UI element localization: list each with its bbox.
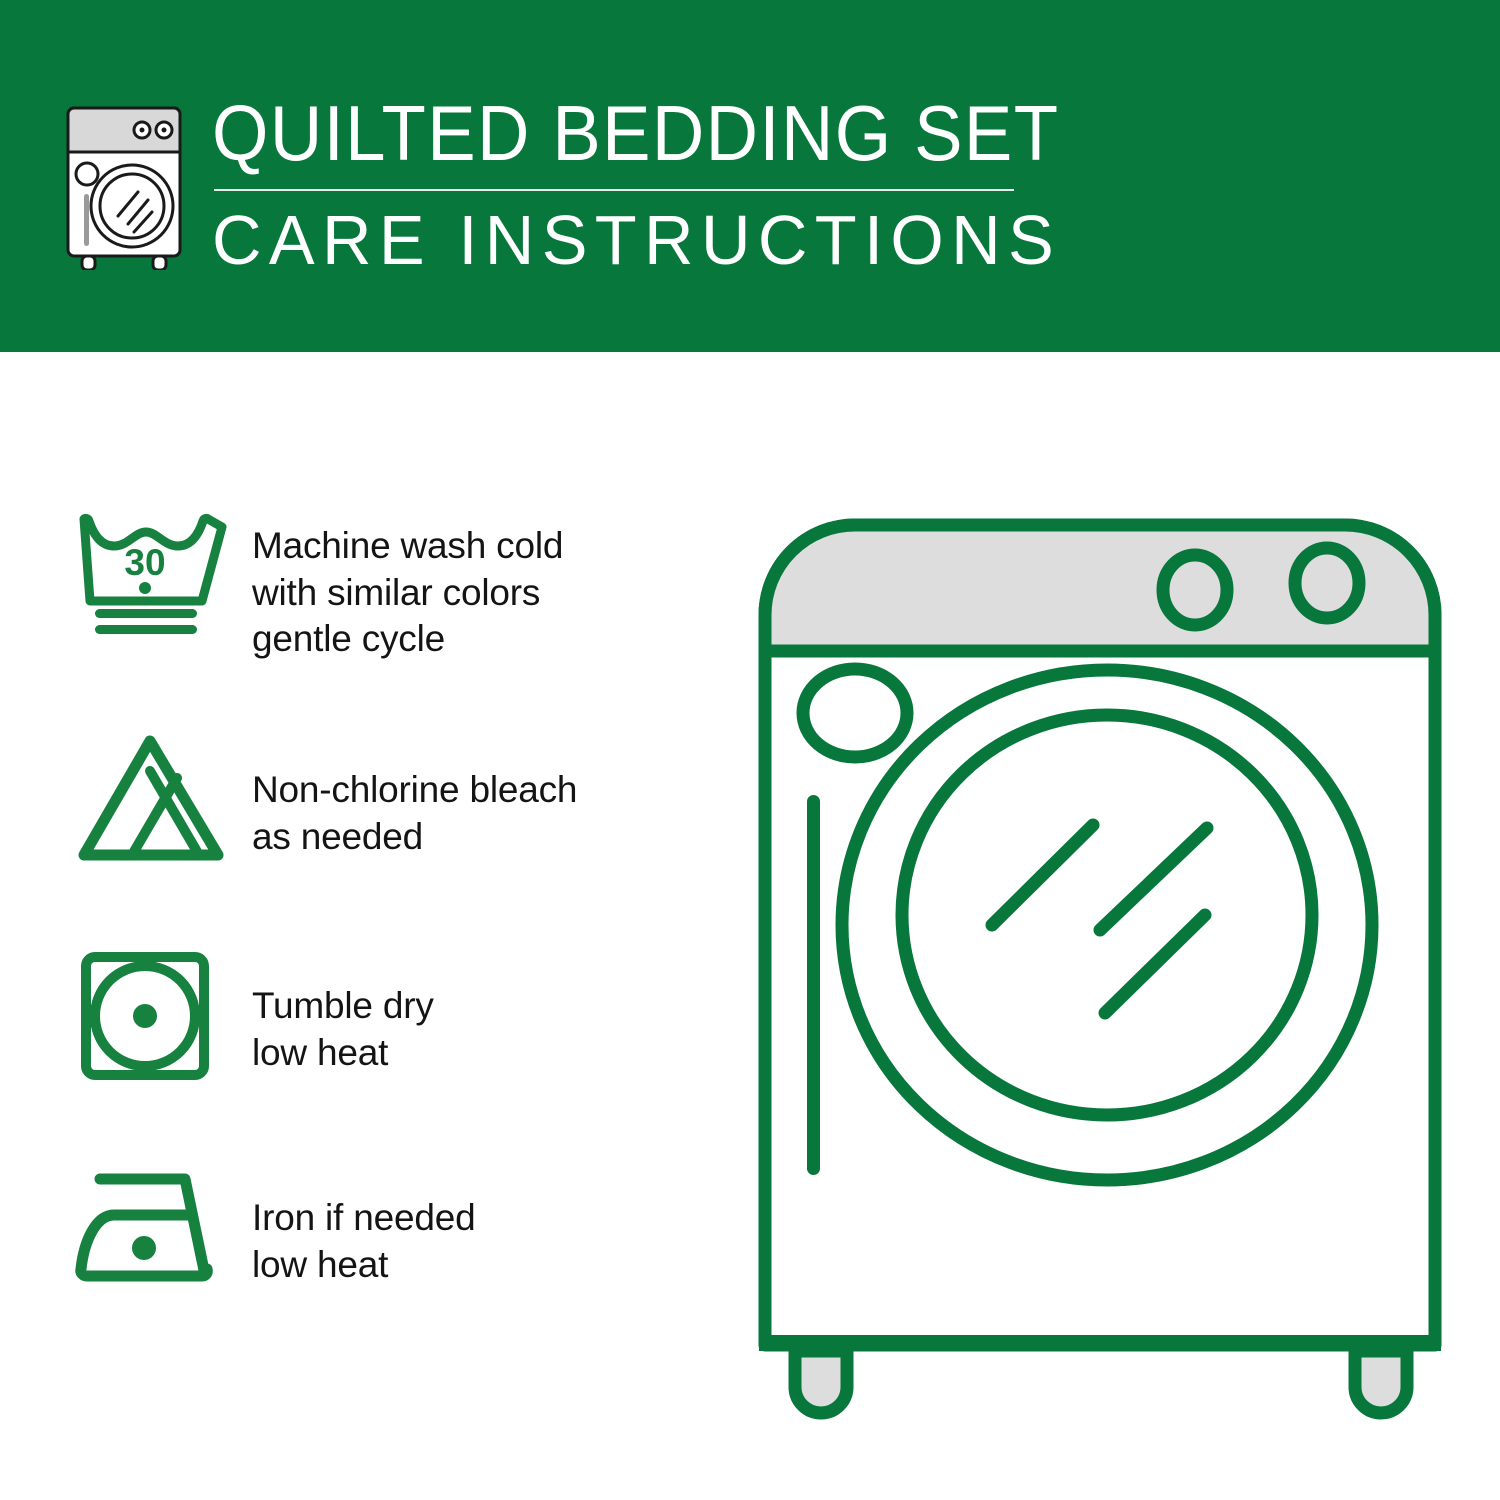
washing-machine-icon <box>60 104 188 270</box>
bleach-triangle-icon <box>72 725 252 875</box>
care-label-iron: Iron if needed low heat <box>252 1165 712 1288</box>
care-label-wash: Machine wash cold with similar colors ge… <box>252 505 712 663</box>
washer-knob-right <box>1295 548 1359 618</box>
care-instruction-list: 30 Machine wash cold with similar colors… <box>72 505 712 1385</box>
tumble-dry-icon <box>72 945 252 1095</box>
care-label-bleach: Non-chlorine bleach as needed <box>252 725 712 860</box>
washer-small-dial <box>803 669 907 757</box>
iron-icon <box>72 1165 252 1300</box>
header-banner: QUILTED BEDDING SET CARE INSTRUCTIONS <box>0 0 1500 352</box>
washing-machine-illustration <box>735 495 1465 1425</box>
washer-handle-bar <box>807 795 820 1175</box>
title-divider <box>214 189 1014 191</box>
washer-leg-right <box>1355 1351 1407 1413</box>
list-item: Non-chlorine bleach as needed <box>72 725 712 945</box>
wash-temp-value: 30 <box>124 542 165 583</box>
washer-knob-left <box>1163 555 1227 625</box>
wash-tub-icon: 30 <box>72 505 252 645</box>
list-item: Iron if needed low heat <box>72 1165 712 1385</box>
header-content: QUILTED BEDDING SET CARE INSTRUCTIONS <box>60 96 1123 275</box>
header-text-block: QUILTED BEDDING SET CARE INSTRUCTIONS <box>212 96 1123 275</box>
list-item: 30 Machine wash cold with similar colors… <box>72 505 712 725</box>
section-subtitle: CARE INSTRUCTIONS <box>212 205 1105 275</box>
page-title: QUILTED BEDDING SET <box>212 96 1059 177</box>
washer-leg-left <box>795 1351 847 1413</box>
care-label-dry: Tumble dry low heat <box>252 945 712 1076</box>
washer-base <box>759 1335 1441 1351</box>
list-item: Tumble dry low heat <box>72 945 712 1165</box>
